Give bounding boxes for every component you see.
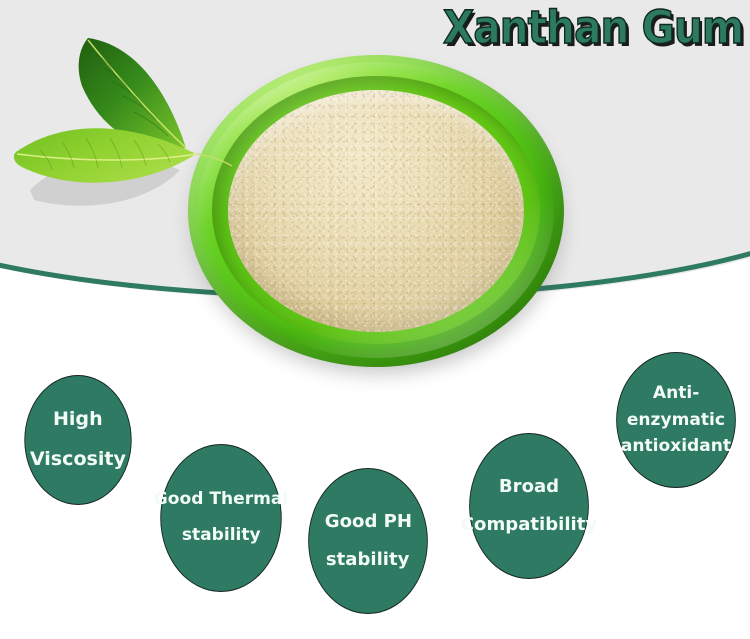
feature-bubble-high-viscosity[interactable]: High Viscosity	[24, 375, 131, 505]
feature-line: Compatibility	[461, 506, 597, 544]
page-title: Xanthan Gum	[443, 4, 695, 52]
feature-line: Viscosity	[30, 440, 126, 480]
feature-bubble-good-ph-stability[interactable]: Good PH stability	[308, 468, 428, 614]
feature-line: antioxidant	[621, 433, 731, 459]
feature-line: Good Thermal	[154, 482, 288, 518]
feature-line: Broad	[499, 468, 559, 506]
feature-line: stability	[326, 541, 409, 579]
feature-line: stability	[182, 518, 261, 554]
feature-bubble-broad-compatibility[interactable]: Broad Compatibility	[469, 433, 589, 579]
feature-line: High	[53, 400, 103, 440]
product-poster: Xanthan Gum High Viscosity Good Thermal …	[0, 0, 750, 639]
leaf-pair-icon	[0, 20, 260, 250]
feature-line: enzymatic	[627, 407, 725, 433]
xanthan-gum-powder	[228, 90, 524, 332]
feature-bubble-good-thermal-stability[interactable]: Good Thermal stability	[160, 444, 281, 592]
feature-line: Good PH	[324, 503, 411, 541]
powder-texture	[228, 90, 524, 332]
feature-line: Anti-	[653, 380, 699, 406]
feature-bubble-anti-enzymatic-antioxidant[interactable]: Anti- enzymatic antioxidant	[616, 352, 736, 488]
product-photo	[0, 0, 750, 400]
